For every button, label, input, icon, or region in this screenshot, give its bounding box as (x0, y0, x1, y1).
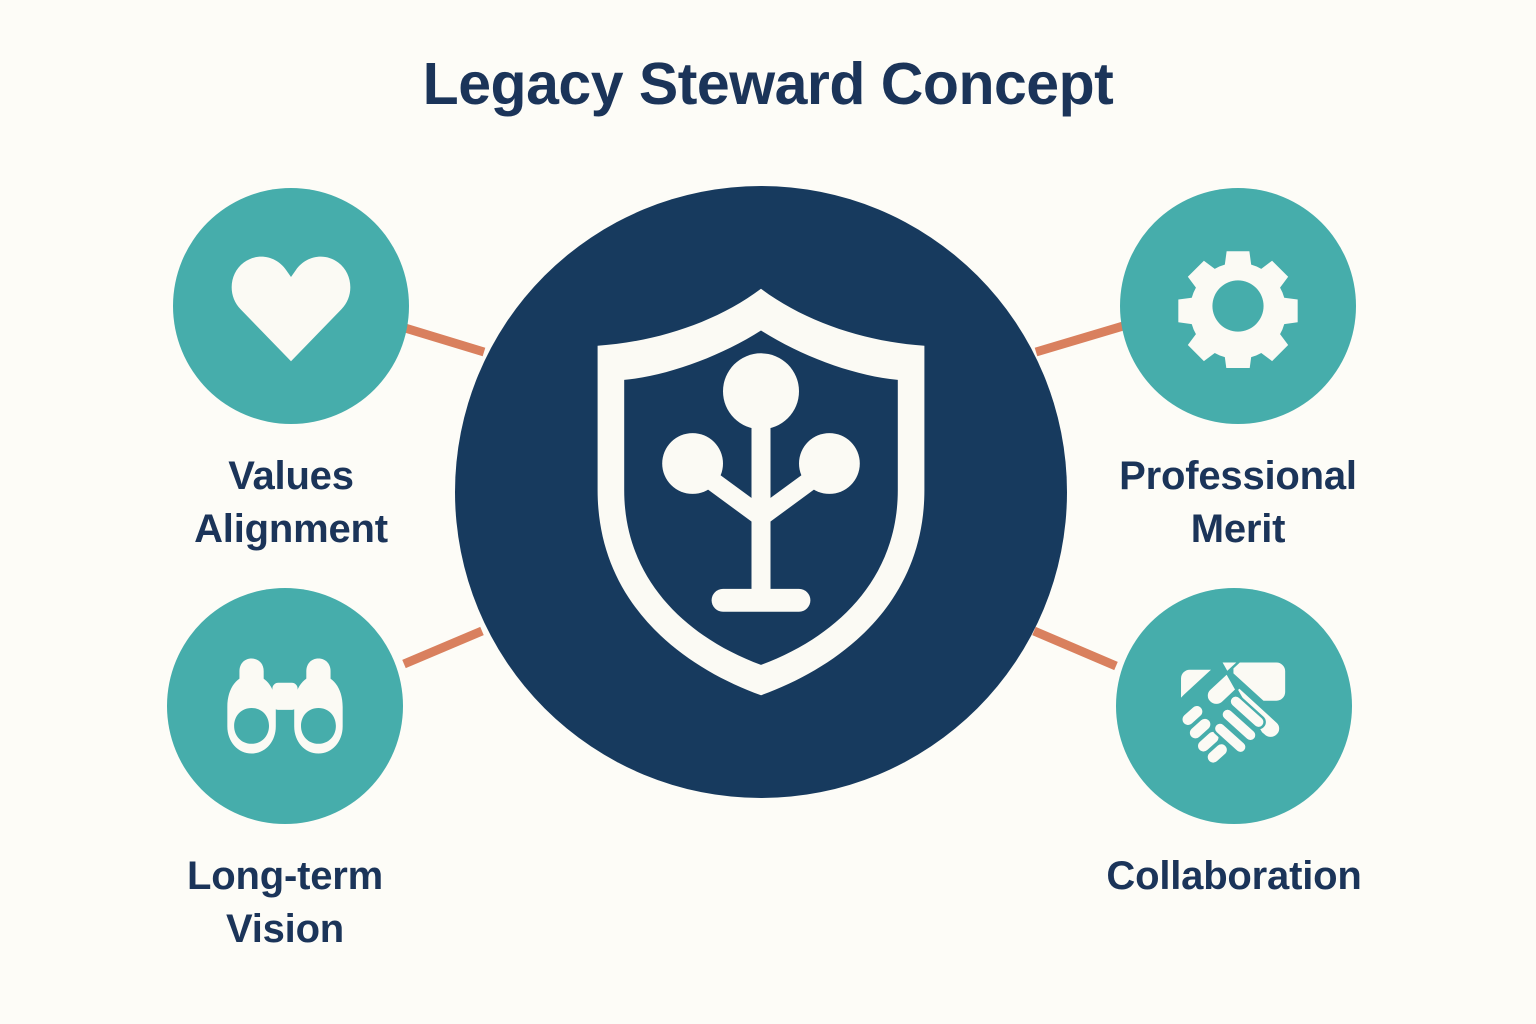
node-values-alignment[interactable]: Values Alignment (141, 188, 441, 556)
infographic-canvas: Legacy Steward Concept (0, 0, 1536, 1024)
node-long-term-vision-circle[interactable] (167, 588, 403, 824)
heart-icon (226, 247, 356, 365)
node-long-term-vision[interactable]: Long-term Vision (135, 588, 435, 956)
center-hub-circle (455, 186, 1067, 798)
handshake-icon (1166, 645, 1302, 767)
node-long-term-vision-label: Long-term Vision (187, 850, 383, 956)
node-collaboration-circle[interactable] (1116, 588, 1352, 824)
node-professional-merit-circle[interactable] (1120, 188, 1356, 424)
node-professional-merit-label: Professional Merit (1119, 450, 1357, 556)
shield-network-icon (571, 277, 951, 707)
binoculars-icon (222, 647, 348, 765)
node-collaboration-label: Collaboration (1106, 850, 1361, 903)
node-values-alignment-circle[interactable] (173, 188, 409, 424)
node-values-alignment-label: Values Alignment (194, 450, 388, 556)
node-collaboration[interactable]: Collaboration (1084, 588, 1384, 903)
gear-icon (1176, 244, 1300, 368)
node-professional-merit[interactable]: Professional Merit (1088, 188, 1388, 556)
